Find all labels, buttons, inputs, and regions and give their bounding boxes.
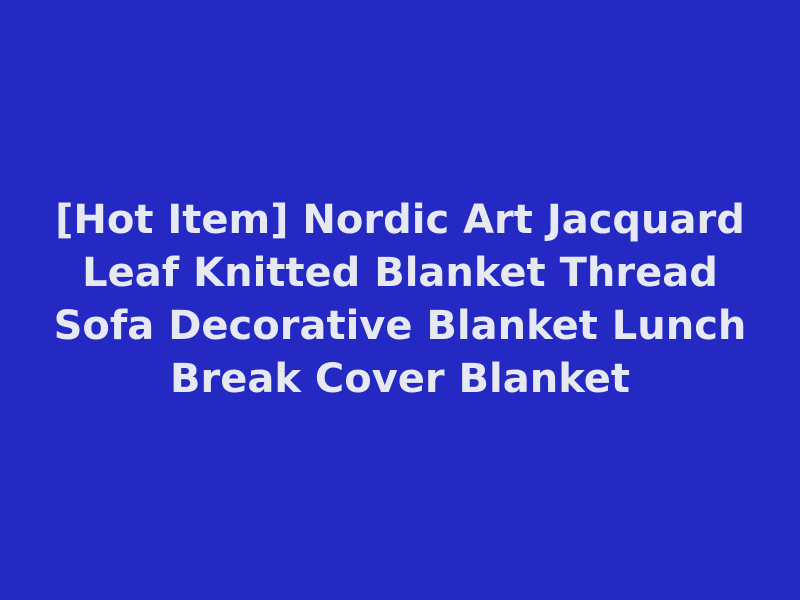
image-placeholder-canvas: [Hot Item] Nordic Art Jacquard Leaf Knit… (0, 0, 800, 600)
product-title: [Hot Item] Nordic Art Jacquard Leaf Knit… (50, 194, 750, 406)
